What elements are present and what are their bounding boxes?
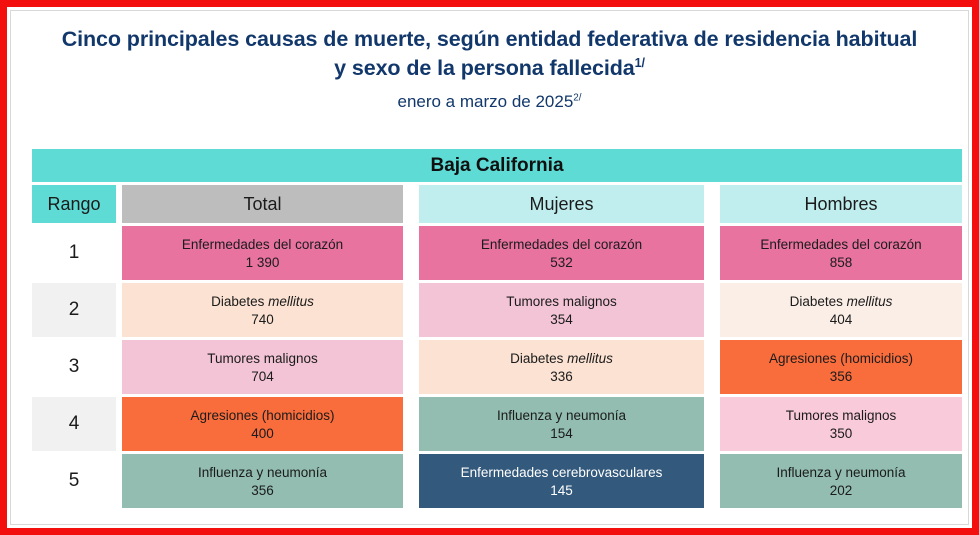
- cause-label: Influenza y neumonía: [198, 464, 327, 481]
- cell-men-rank-1: Enfermedades del corazón858: [720, 226, 962, 280]
- cell-total-rank-1: Enfermedades del corazón1 390: [122, 226, 403, 280]
- title-line-2: y sexo de la persona fallecida1/: [11, 54, 968, 83]
- cause-label-italic: mellitus: [268, 294, 314, 309]
- column-header-total: Total: [122, 185, 403, 223]
- cause-value: 858: [830, 254, 853, 271]
- state-title-band: Baja California: [32, 149, 962, 182]
- cell-men-rank-4: Tumores malignos350: [720, 397, 962, 451]
- cell-women-rank-5: Enfermedades cerebrovasculares145: [419, 454, 704, 508]
- cell-women-rank-4: Influenza y neumonía154: [419, 397, 704, 451]
- title-footnote-marker: 1/: [635, 56, 645, 70]
- cause-label: Diabetes mellitus: [510, 350, 613, 367]
- column-gap: [403, 283, 419, 340]
- cause-label-italic: mellitus: [567, 351, 613, 366]
- cause-value: 350: [830, 425, 853, 442]
- column-gap: [704, 454, 720, 511]
- column-gap: [704, 340, 720, 397]
- cause-value: 154: [550, 425, 573, 442]
- column-gap: [704, 283, 720, 340]
- column-gap: [403, 340, 419, 397]
- subtitle-text: enero a marzo de 2025: [397, 92, 573, 111]
- rank-cell-3: 3: [32, 340, 116, 394]
- cell-total-rank-4: Agresiones (homicidios)400: [122, 397, 403, 451]
- cause-value: 404: [830, 311, 853, 328]
- column-gap: [403, 454, 419, 511]
- cell-men-rank-2: Diabetes mellitus404: [720, 283, 962, 337]
- cell-men-rank-5: Influenza y neumonía202: [720, 454, 962, 508]
- cause-label: Enfermedades del corazón: [760, 236, 921, 253]
- cell-women-rank-2: Tumores malignos354: [419, 283, 704, 337]
- rank-cell-1: 1: [32, 226, 116, 280]
- cause-label: Influenza y neumonía: [497, 407, 626, 424]
- cell-total-rank-5: Influenza y neumonía356: [122, 454, 403, 508]
- cause-value: 145: [550, 482, 573, 499]
- title-block: Cinco principales causas de muerte, segú…: [11, 11, 968, 117]
- cause-label: Diabetes mellitus: [211, 293, 314, 310]
- rank-cell-4: 4: [32, 397, 116, 451]
- cell-total-rank-3: Tumores malignos704: [122, 340, 403, 394]
- column-header-men: Hombres: [720, 185, 962, 223]
- subtitle-footnote-marker: 2/: [573, 92, 581, 103]
- column-gap: [704, 397, 720, 454]
- column-gap: [403, 185, 419, 226]
- cause-label: Diabetes mellitus: [790, 293, 893, 310]
- cause-value: 400: [251, 425, 274, 442]
- cause-label: Tumores malignos: [207, 350, 318, 367]
- column-gap: [403, 397, 419, 454]
- cause-label-italic: mellitus: [847, 294, 893, 309]
- column-gap: [704, 185, 720, 226]
- poster-frame: Cinco principales causas de muerte, segú…: [0, 0, 979, 535]
- cause-value: 336: [550, 368, 573, 385]
- cause-value: 356: [830, 368, 853, 385]
- cell-women-rank-3: Diabetes mellitus336: [419, 340, 704, 394]
- column-gap: [704, 226, 720, 283]
- column-gap: [403, 226, 419, 283]
- cell-men-rank-3: Agresiones (homicidios)356: [720, 340, 962, 394]
- cause-label: Enfermedades del corazón: [481, 236, 642, 253]
- cause-label: Agresiones (homicidios): [190, 407, 334, 424]
- title-line-1: Cinco principales causas de muerte, segú…: [11, 25, 968, 54]
- table-grid: Rango Total Mujeres Hombres 1Enfermedade…: [32, 185, 962, 511]
- cause-value: 1 390: [246, 254, 280, 271]
- cause-value: 356: [251, 482, 274, 499]
- cause-value: 532: [550, 254, 573, 271]
- cause-value: 704: [251, 368, 274, 385]
- poster-inner-frame: Cinco principales causas de muerte, segú…: [10, 10, 969, 525]
- title-line-2-text: y sexo de la persona fallecida: [334, 56, 635, 80]
- subtitle: enero a marzo de 20252/: [11, 87, 968, 117]
- column-header-women: Mujeres: [419, 185, 704, 223]
- cause-label: Agresiones (homicidios): [769, 350, 913, 367]
- data-table: Baja California Rango Total Mujeres Homb…: [32, 149, 962, 511]
- cause-label: Influenza y neumonía: [776, 464, 905, 481]
- cause-value: 740: [251, 311, 274, 328]
- rank-cell-5: 5: [32, 454, 116, 508]
- cause-value: 202: [830, 482, 853, 499]
- cause-label: Enfermedades cerebrovasculares: [461, 464, 663, 481]
- rank-cell-2: 2: [32, 283, 116, 337]
- cause-label: Tumores malignos: [506, 293, 617, 310]
- cause-label: Enfermedades del corazón: [182, 236, 343, 253]
- cause-value: 354: [550, 311, 573, 328]
- cell-total-rank-2: Diabetes mellitus740: [122, 283, 403, 337]
- column-header-rank: Rango: [32, 185, 116, 223]
- cell-women-rank-1: Enfermedades del corazón532: [419, 226, 704, 280]
- cause-label: Tumores malignos: [786, 407, 897, 424]
